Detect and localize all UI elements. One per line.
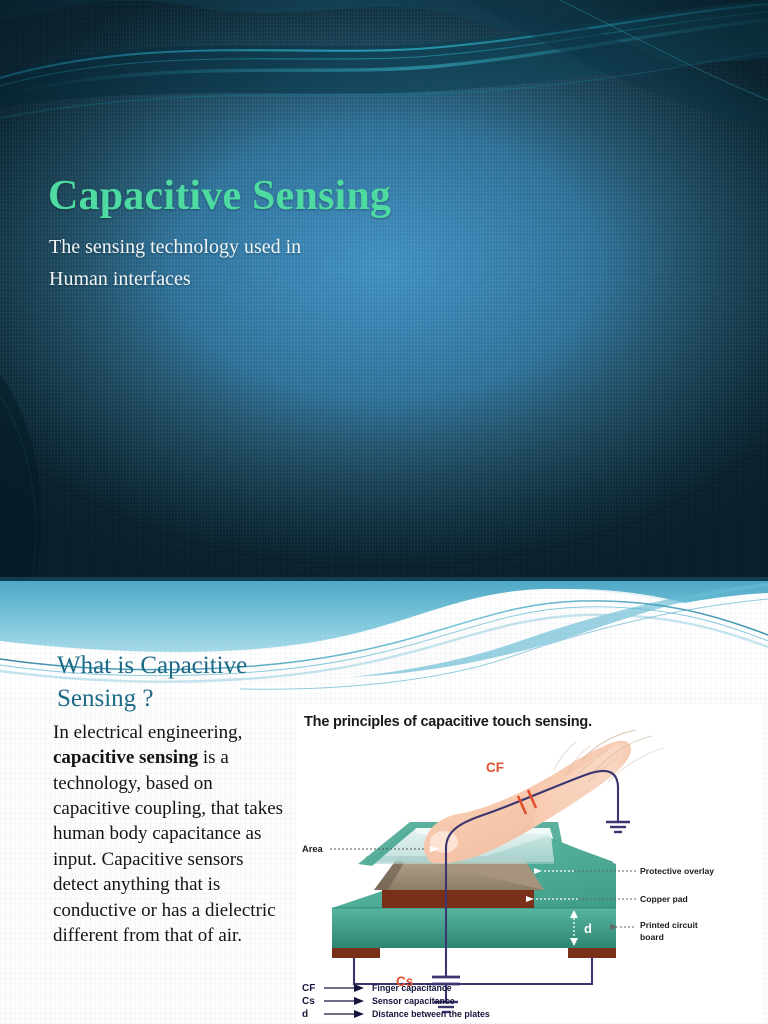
legend-symbol-2: d — [302, 1009, 308, 1020]
slide-content: What is Capacitive Sensing ? In electric… — [0, 577, 768, 1024]
diagram-title: The principles of capacitive touch sensi… — [304, 714, 592, 730]
body-seg-1: In electrical engineering, — [53, 722, 242, 743]
diagram-illustration: CF Cs — [296, 730, 762, 1022]
page-subtitle: The sensing technology used in Human int… — [49, 231, 469, 296]
legend-symbol-0: CF — [302, 983, 315, 994]
area-label: Area — [302, 844, 324, 854]
subtitle-line-1: The sensing technology used in — [49, 231, 469, 263]
ground-symbol-finger — [606, 822, 630, 832]
copper-pad-bottom-left — [332, 948, 380, 958]
pcb-label-line1: Printed circuit — [640, 920, 698, 930]
distance-label: d — [584, 921, 592, 936]
title-slide-wave-decoration — [0, 0, 768, 130]
protective-overlay-label: Protective overlay — [640, 866, 714, 876]
body-seg-3: is a technology, based on capacitive cou… — [53, 747, 283, 946]
body-seg-2-bold: capacitive sensing — [53, 747, 198, 768]
copper-pad-label: Copper pad — [640, 894, 688, 904]
page-title: Capacitive Sensing — [48, 172, 391, 220]
legend-description-2: Distance between the plates — [372, 1009, 490, 1019]
copper-pad-bottom-right — [568, 948, 616, 958]
capacitive-sensing-diagram: The principles of capacitive touch sensi… — [296, 704, 762, 1022]
section-heading: What is Capacitive Sensing ? — [57, 649, 307, 716]
title-slide-corner-decoration — [0, 330, 230, 577]
finger-capacitance-label: CF — [486, 760, 504, 775]
diagram-legend: CF Finger capacitance Cs Sensor capacita… — [302, 983, 490, 1020]
presentation-page: Capacitive Sensing The sensing technolog… — [0, 0, 768, 1024]
copper-pad-sensor — [382, 890, 534, 908]
slide-title: Capacitive Sensing The sensing technolog… — [0, 0, 768, 577]
legend-description-0: Finger capacitance — [372, 983, 452, 993]
legend-description-1: Sensor capacitance — [372, 996, 455, 1006]
pcb-label-line2: board — [640, 932, 664, 942]
subtitle-line-2: Human interfaces — [49, 263, 469, 295]
legend-symbol-1: Cs — [302, 996, 315, 1007]
body-paragraph: In electrical engineering, capacitive se… — [53, 720, 293, 948]
